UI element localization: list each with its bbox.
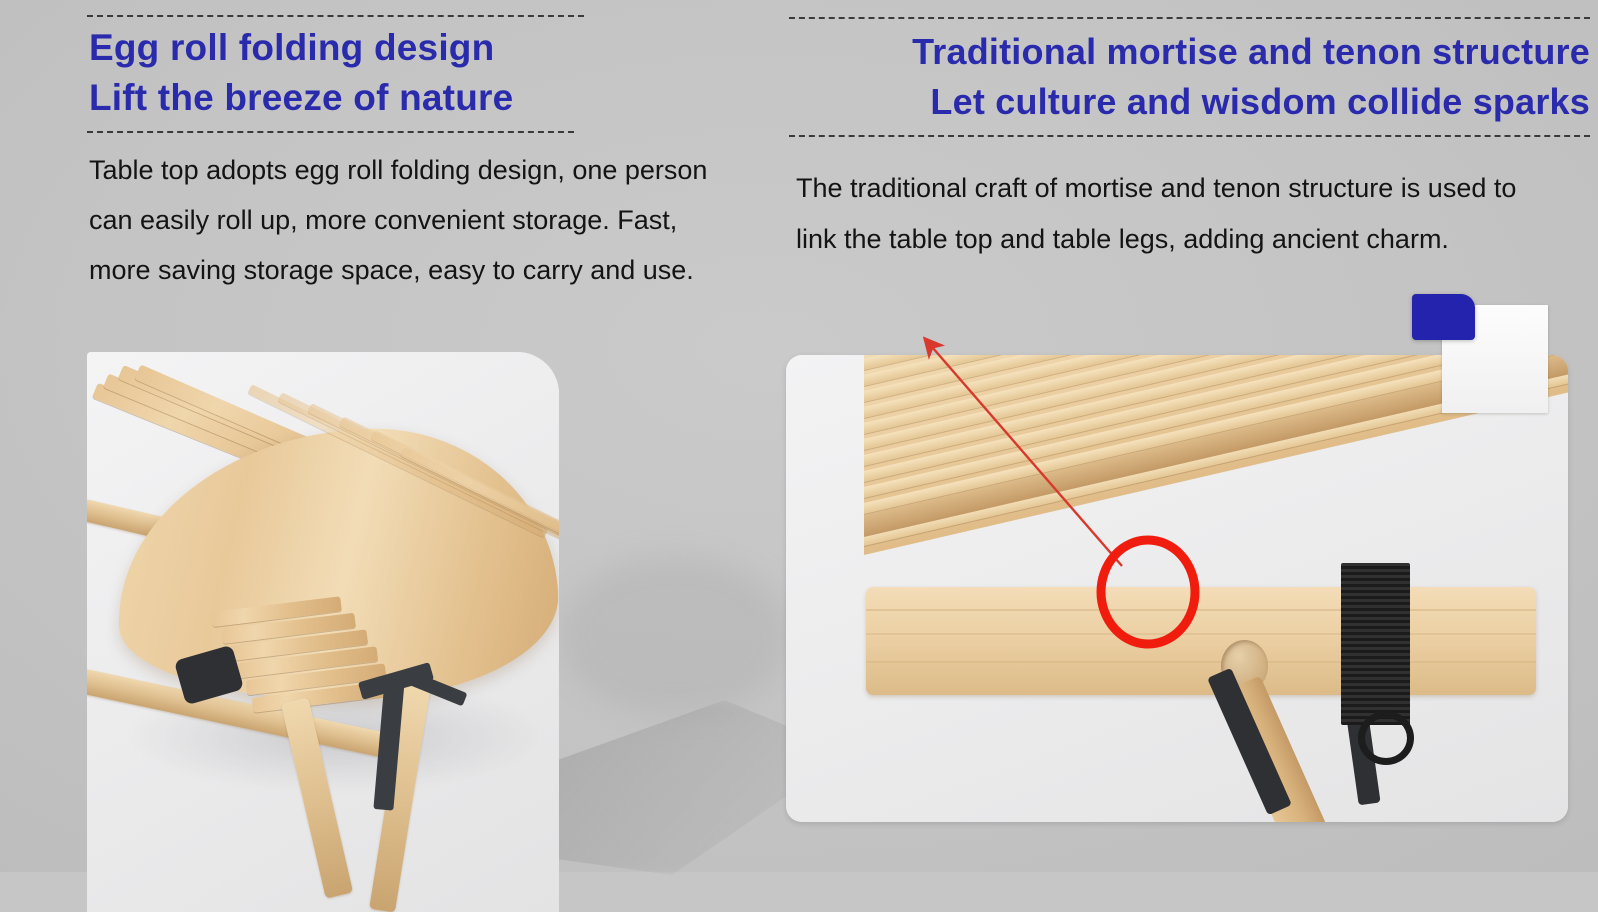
right-heading-line2: Let culture and wisdom collide sparks	[789, 77, 1590, 127]
right-product-image	[786, 355, 1568, 822]
blue-badge	[1412, 294, 1475, 340]
left-column: Egg roll folding design Lift the breeze …	[87, 0, 584, 295]
left-heading-line1: Egg roll folding design	[89, 27, 494, 68]
left-body-text: Table top adopts egg roll folding design…	[87, 133, 729, 295]
right-photo-scene	[786, 355, 1568, 822]
right-heading-line1: Traditional mortise and tenon structure	[912, 31, 1590, 72]
right-column: Traditional mortise and tenon structure …	[789, 0, 1590, 265]
left-heading-line2: Lift the breeze of nature	[89, 77, 513, 118]
strap-loop	[1358, 711, 1414, 765]
left-photo-scene	[87, 352, 559, 912]
right-heading: Traditional mortise and tenon structure …	[789, 19, 1590, 131]
right-body-text: The traditional craft of mortise and ten…	[789, 137, 1556, 265]
background-soft-shadow	[560, 556, 790, 716]
table-apron	[866, 587, 1536, 695]
table-strap	[1341, 563, 1410, 725]
left-heading: Egg roll folding design Lift the breeze …	[87, 17, 584, 127]
left-product-image	[87, 352, 559, 912]
